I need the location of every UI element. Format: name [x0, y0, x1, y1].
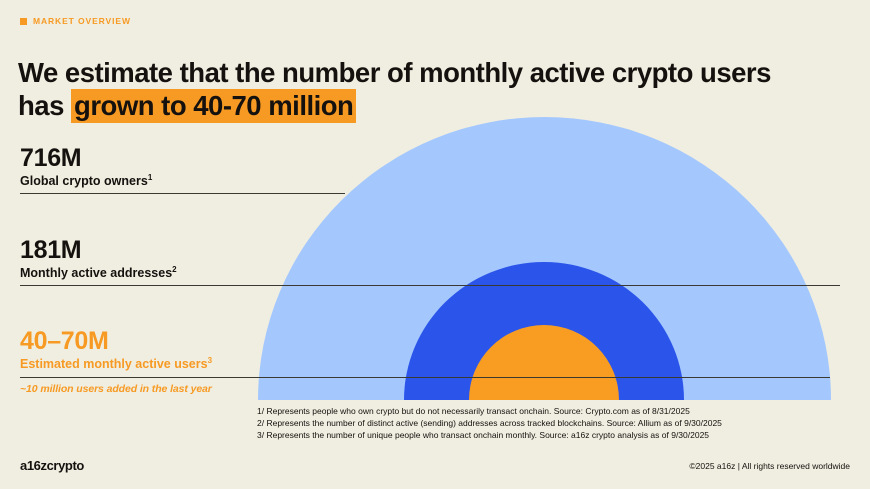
stat-label: Global crypto owners1 [20, 173, 152, 189]
connector-rule-1 [20, 193, 345, 194]
footnote-marker: 3 [208, 356, 212, 365]
headline-line-1: We estimate that the number of monthly a… [18, 56, 808, 89]
stat-label-text: Monthly active addresses [20, 266, 172, 280]
footnote-marker: 1 [148, 173, 152, 182]
page-title: We estimate that the number of monthly a… [18, 56, 808, 122]
connector-rule-2 [20, 285, 840, 286]
stat-label-text: Global crypto owners [20, 174, 148, 188]
stat-monthly-active-addresses: 181M Monthly active addresses2 [20, 236, 177, 281]
stat-value: 181M [20, 236, 177, 264]
connector-rule-3 [20, 377, 830, 378]
eyebrow-label: MARKET OVERVIEW [33, 16, 131, 26]
slide-canvas: MARKET OVERVIEW We estimate that the num… [0, 0, 870, 489]
footnote-1: 1/ Represents people who own crypto but … [257, 405, 857, 417]
stat-global-crypto-owners: 716M Global crypto owners1 [20, 144, 152, 189]
a16zcrypto-logo: a16zcrypto [20, 458, 84, 473]
headline-line-2-plain: has [18, 90, 71, 121]
footnote-marker: 2 [172, 265, 176, 274]
stat-label-text: Estimated monthly active users [20, 357, 208, 371]
eyebrow: MARKET OVERVIEW [20, 16, 131, 26]
stat-label: Estimated monthly active users3 [20, 356, 212, 372]
stat-value: 40–70M [20, 327, 212, 355]
stat-label: Monthly active addresses2 [20, 265, 177, 281]
copyright-text: ©2025 a16z | All rights reserved worldwi… [689, 461, 850, 471]
footnote-2: 2/ Represents the number of distinct act… [257, 417, 857, 429]
orange-square-icon [20, 18, 27, 25]
stat-value: 716M [20, 144, 152, 172]
footnote-3: 3/ Represents the number of unique peopl… [257, 429, 857, 441]
growth-note: ~10 million users added in the last year [20, 383, 212, 395]
stat-estimated-monthly-active-users: 40–70M Estimated monthly active users3 [20, 327, 212, 372]
semicircle-estimated-monthly-active-users [469, 325, 619, 400]
footnotes: 1/ Represents people who own crypto but … [257, 405, 857, 441]
headline-highlight: grown to 40-70 million [71, 89, 356, 123]
semicircle-global-crypto-owners [258, 117, 831, 400]
semicircle-monthly-active-addresses [404, 262, 684, 400]
headline-line-2: has grown to 40-70 million [18, 89, 808, 122]
